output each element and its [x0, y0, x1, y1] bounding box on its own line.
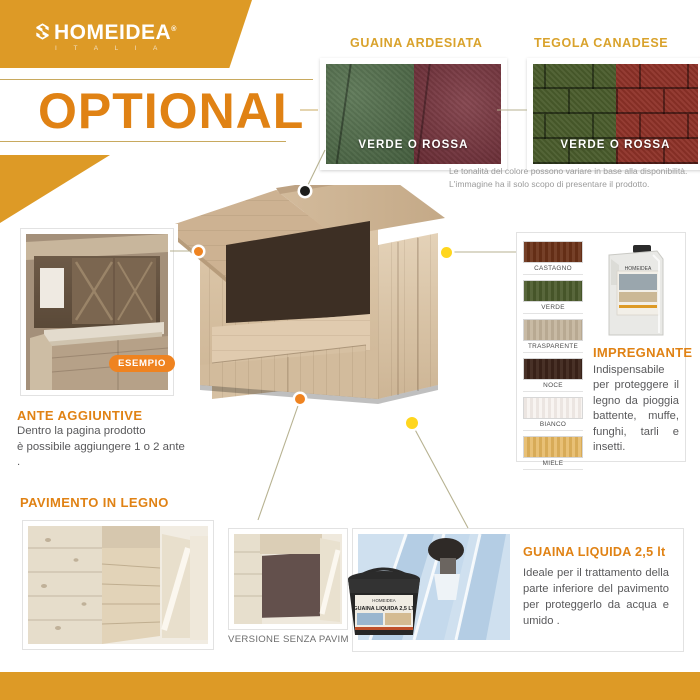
connector-dot-guaina-liquida[interactable]	[406, 417, 418, 429]
connector-lines	[0, 0, 700, 700]
connector-dot-pavimento[interactable]	[295, 394, 305, 404]
connector-dot-ante[interactable]	[194, 247, 203, 256]
connector-dot-roof[interactable]	[300, 186, 310, 196]
connector-dot-impregnante[interactable]	[441, 247, 452, 258]
infographic-page: HOMEIDEA® I T A L I A OPTIONAL GUAINA AR…	[0, 0, 700, 700]
esempio-badge: ESEMPIO	[109, 355, 175, 372]
